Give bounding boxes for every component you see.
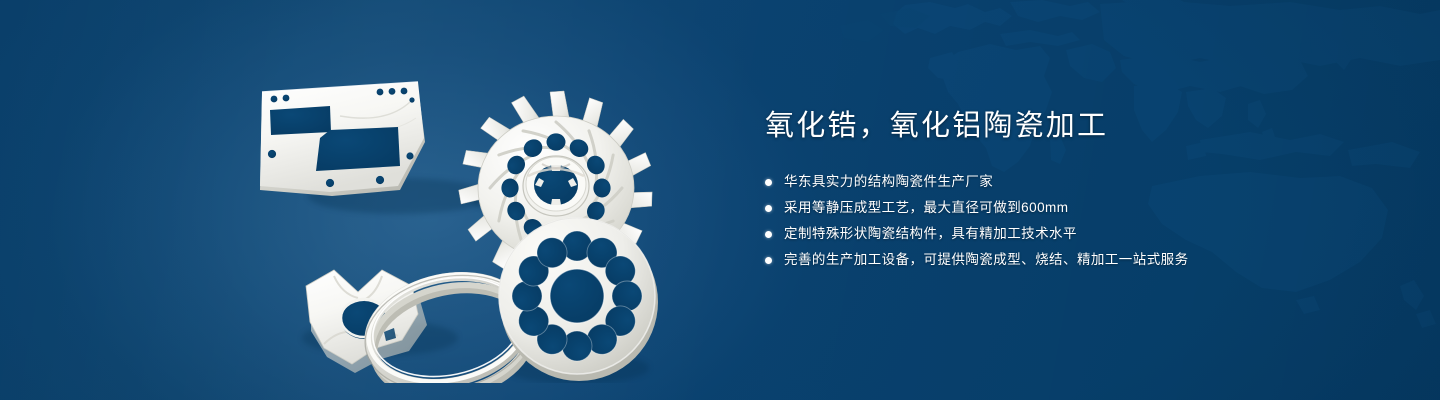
bullet-dot-icon: [765, 179, 772, 186]
banner-text-block: 氧化锆，氧化铝陶瓷加工 华东具实力的结构陶瓷件生产厂家 采用等静压成型工艺，最大…: [765, 108, 1325, 269]
bullet-dot-icon: [765, 231, 772, 238]
feature-text: 采用等静压成型工艺，最大直径可做到600mm: [784, 200, 1068, 217]
list-item: 完善的生产加工设备，可提供陶瓷成型、烧结、精加工一站式服务: [765, 252, 1325, 269]
bullet-dot-icon: [765, 205, 772, 212]
list-item: 华东具实力的结构陶瓷件生产厂家: [765, 174, 1325, 191]
feature-list: 华东具实力的结构陶瓷件生产厂家 采用等静压成型工艺，最大直径可做到600mm 定…: [765, 174, 1325, 269]
feature-text: 定制特殊形状陶瓷结构件，具有精加工技术水平: [784, 226, 1077, 243]
bullet-dot-icon: [765, 257, 772, 264]
feature-text: 华东具实力的结构陶瓷件生产厂家: [784, 174, 993, 191]
promo-banner: 氧化锆，氧化铝陶瓷加工 华东具实力的结构陶瓷件生产厂家 采用等静压成型工艺，最大…: [0, 0, 1440, 400]
list-item: 采用等静压成型工艺，最大直径可做到600mm: [765, 200, 1325, 217]
list-item: 定制特殊形状陶瓷结构件，具有精加工技术水平: [765, 226, 1325, 243]
ceramic-plate-with-cutouts: [260, 82, 425, 196]
product-showcase: [240, 38, 710, 383]
feature-text: 完善的生产加工设备，可提供陶瓷成型、烧结、精加工一站式服务: [784, 252, 1189, 269]
page-title: 氧化锆，氧化铝陶瓷加工: [765, 108, 1325, 144]
